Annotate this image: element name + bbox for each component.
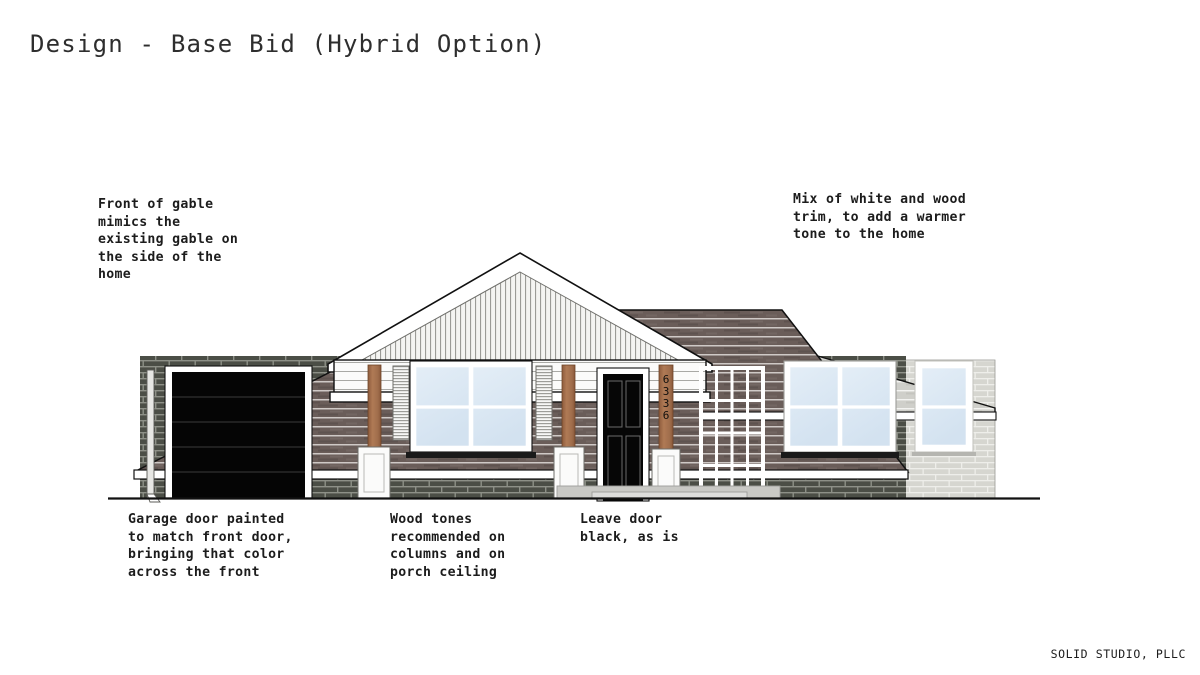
annotation-door: Leave door black, as is xyxy=(580,511,679,546)
front-door[interactable] xyxy=(597,368,649,501)
page-title: Design - Base Bid (Hybrid Option) xyxy=(30,30,546,58)
shutter-right xyxy=(536,366,552,440)
annotation-wood: Wood tones recommended on columns and on… xyxy=(390,511,505,581)
garage-door[interactable] xyxy=(165,366,312,498)
footer-credit: SOLID STUDIO, PLLC xyxy=(1051,647,1186,661)
window-right-pair xyxy=(781,361,899,458)
shutter-left xyxy=(393,366,409,440)
annotation-trim: Mix of white and wood trim, to add a war… xyxy=(793,191,966,244)
annotation-gable: Front of gable mimics the existing gable… xyxy=(98,196,238,284)
window-far-right xyxy=(912,361,976,456)
annotation-garage: Garage door painted to match front door,… xyxy=(128,511,293,581)
front-stoop xyxy=(557,486,780,499)
house-elevation-rendering: 6 3 3 6 xyxy=(0,120,1200,520)
window-left-pair xyxy=(406,361,536,458)
svg-text:6: 6 xyxy=(663,409,670,422)
